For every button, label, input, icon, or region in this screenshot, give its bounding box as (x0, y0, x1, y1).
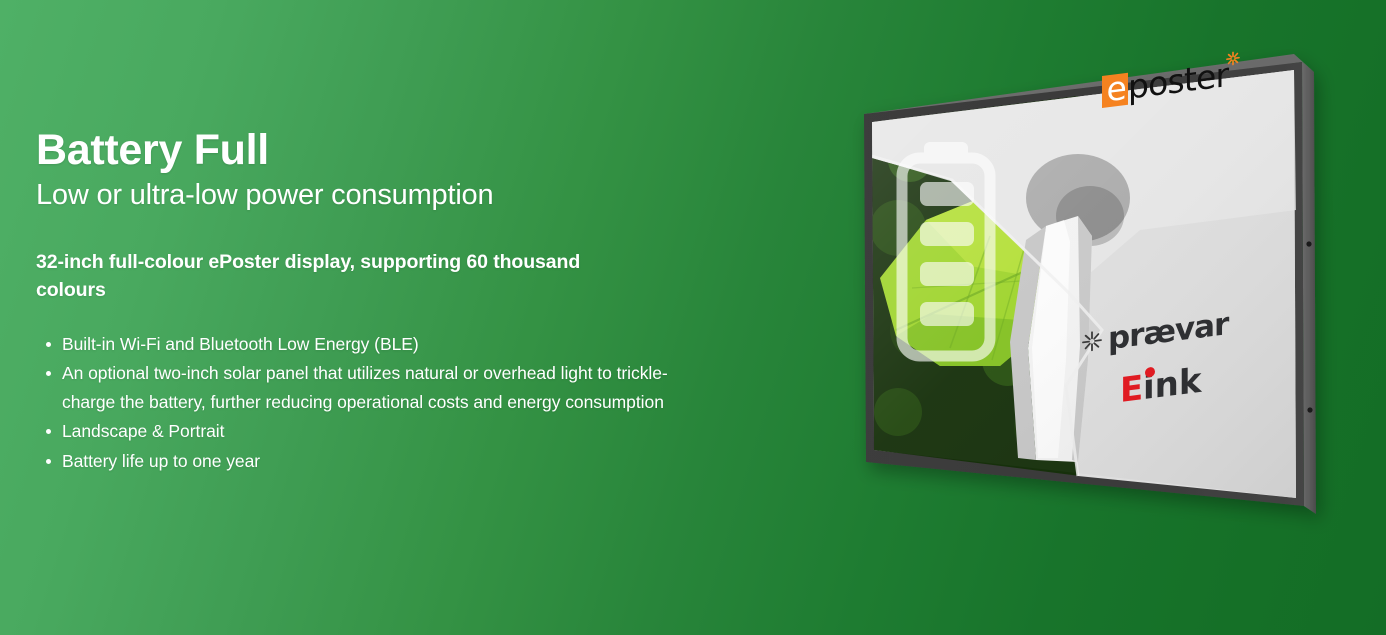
display-device: e poster (840, 30, 1350, 550)
banner-slide: Battery Full Low or ultra-low power cons… (0, 0, 1386, 635)
list-item: Landscape & Portrait (62, 417, 682, 445)
page-title: Battery Full (36, 128, 696, 173)
eposter-mark-letter: e (1107, 68, 1127, 109)
sensor-dot-icon (1307, 407, 1312, 412)
sensor-dot-icon (1306, 241, 1311, 246)
intro-paragraph: 32-inch full-colour ePoster display, sup… (36, 248, 636, 305)
screen (870, 70, 1296, 498)
list-item: Battery life up to one year (62, 447, 682, 475)
eink-first-letter: E (1120, 368, 1143, 411)
list-item: An optional two-inch solar panel that ut… (62, 359, 682, 416)
display-device-svg: e poster (840, 30, 1350, 550)
page-subtitle: Low or ultra-low power consumption (36, 179, 696, 211)
text-column: Battery Full Low or ultra-low power cons… (36, 128, 696, 476)
list-item: Built-in Wi-Fi and Bluetooth Low Energy … (62, 330, 682, 358)
display-side-panel (1302, 62, 1316, 514)
screen-glare (872, 70, 1296, 498)
feature-list: Built-in Wi-Fi and Bluetooth Low Energy … (36, 330, 682, 475)
